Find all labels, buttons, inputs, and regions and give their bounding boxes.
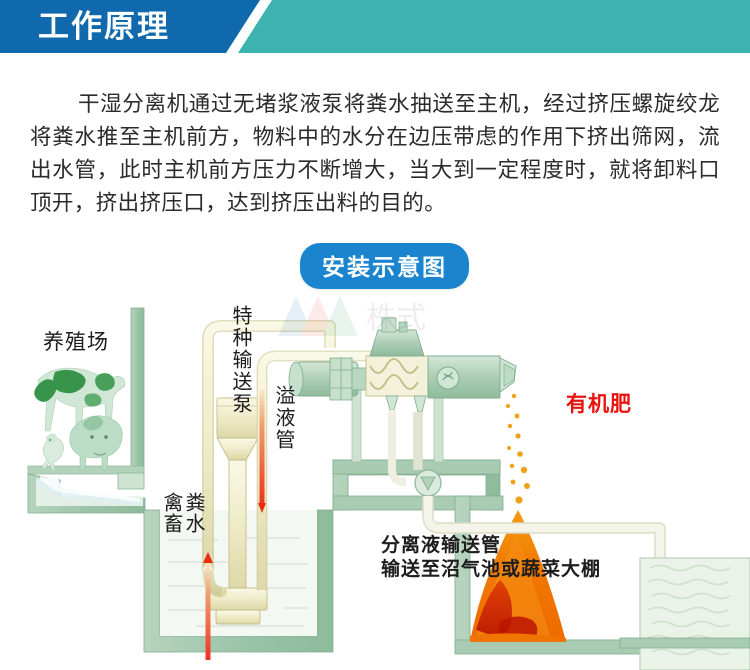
installation-diagram-badge: 安装示意图 [300, 243, 469, 289]
label-livestock-manure-water: 禽畜 粪水 [160, 492, 204, 534]
page-header-banner: 工作原理 [0, 0, 750, 53]
label-special-transfer-pump: 特种输送泵 [229, 305, 251, 415]
label-effluent-line-2: 输送至沼气池或蔬菜大棚 [381, 558, 601, 582]
label-overflow-pipe: 溢液管 [272, 385, 294, 451]
page-title: 工作原理 [38, 8, 170, 45]
label-farm: 养殖场 [43, 332, 109, 354]
label-effluent-line-1: 分离液输送管 [381, 534, 601, 558]
label-manure-col-1: 禽畜 [160, 492, 182, 534]
installation-diagram-graphic [0, 270, 750, 670]
separator-machine [289, 318, 516, 412]
label-manure-col-2: 粪水 [182, 492, 204, 534]
liquid-storage-tank [620, 558, 750, 670]
label-effluent-transfer-pipe: 分离液输送管 输送至沼气池或蔬菜大棚 [381, 534, 601, 582]
organic-fertilizer-pile [470, 394, 566, 642]
label-organic-fertilizer: 有机肥 [566, 394, 632, 416]
livestock-illustration [34, 368, 125, 470]
working-principle-paragraph: 干湿分离机通过无堵浆液泵将粪水抽送至主机，经过挤压螺旋绞龙将粪水推至主机前方，物… [30, 88, 720, 220]
installation-diagram: 株式 养殖场 特种输送泵 溢液管 禽畜 粪水 有机肥 分离液输送管 输送至沼气池… [0, 270, 750, 670]
